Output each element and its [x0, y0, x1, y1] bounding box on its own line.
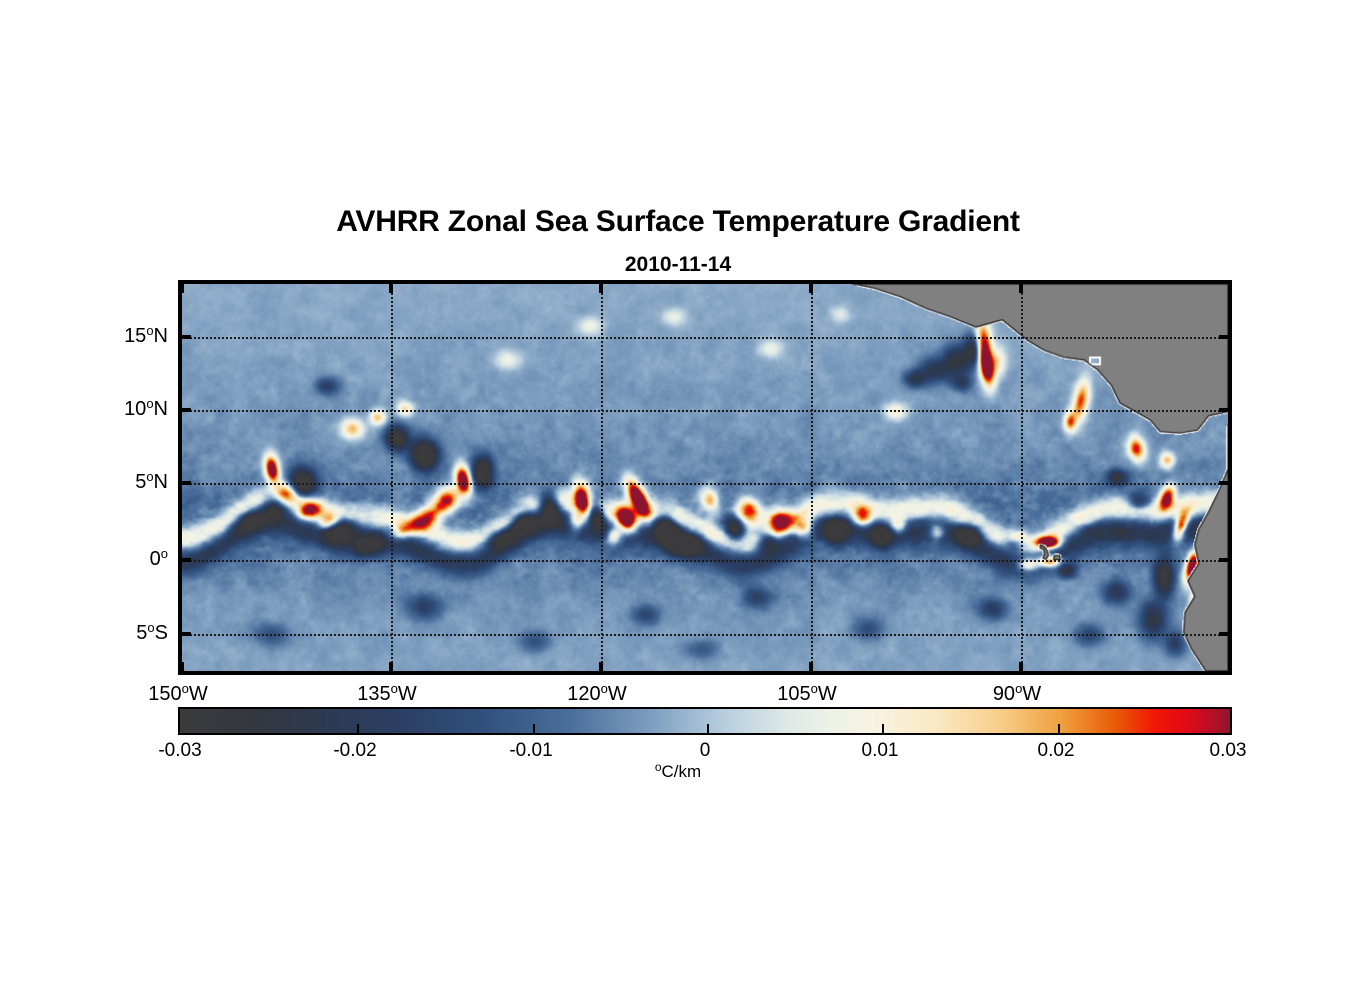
tick-mark-y [182, 558, 191, 562]
y-tick-label-3: 0o [150, 546, 168, 571]
tick-mark-y [182, 408, 191, 412]
tick-mark-x [389, 662, 393, 671]
tick-mark-x [180, 662, 184, 671]
tick-mark-x [599, 284, 603, 293]
colorbar-tick-mark [707, 724, 709, 733]
tick-mark-y [1219, 632, 1228, 636]
x-tick-label-1: 135oW [357, 681, 417, 706]
colorbar-gradient [180, 709, 1230, 733]
y-tick-label-4: 5oS [136, 620, 168, 645]
figure-subtitle-date: 2010-11-14 [0, 253, 1356, 277]
colorbar[interactable] [178, 707, 1232, 735]
colorbar-tick-label-1: -0.02 [333, 740, 376, 762]
tick-mark-y [1219, 481, 1228, 485]
x-tick-label-4: 90oW [993, 681, 1041, 706]
tick-mark-x [180, 284, 184, 293]
colorbar-tick-mark [882, 724, 884, 733]
tick-mark-x [1019, 662, 1023, 671]
y-tick-label-0: 15oN [124, 323, 168, 348]
tick-mark-y [182, 335, 191, 339]
tick-mark-y [182, 632, 191, 636]
tick-mark-x [1019, 284, 1023, 293]
x-tick-label-3: 105oW [777, 681, 837, 706]
page-title: AVHRR Zonal Sea Surface Temperature Grad… [0, 205, 1356, 239]
tick-mark-x [809, 662, 813, 671]
x-tick-label-0: 150oW [148, 681, 208, 706]
colorbar-tick-label-3: 0 [700, 740, 711, 762]
colorbar-tick-mark [533, 724, 535, 733]
tick-mark-y [1219, 558, 1228, 562]
colorbar-tick-label-5: 0.02 [1038, 740, 1075, 762]
tick-mark-y [1219, 335, 1228, 339]
sst-gradient-heatmap [182, 284, 1228, 671]
tick-mark-x [389, 284, 393, 293]
colorbar-tick-label-2: -0.01 [509, 740, 552, 762]
colorbar-tick-label-0: -0.03 [158, 740, 201, 762]
tick-mark-x [809, 284, 813, 293]
colorbar-tick-label-4: 0.01 [862, 740, 899, 762]
tick-mark-y [182, 481, 191, 485]
x-tick-label-2: 120oW [567, 681, 627, 706]
figure-canvas: AVHRR Zonal Sea Surface Temperature Grad… [0, 0, 1356, 1000]
tick-mark-y [1219, 408, 1228, 412]
colorbar-units-label: oC/km [0, 760, 1356, 782]
y-tick-label-1: 10oN [124, 396, 168, 421]
colorbar-tick-label-6: 0.03 [1210, 740, 1247, 762]
colorbar-tick-mark [1058, 724, 1060, 733]
y-tick-label-2: 5oN [135, 469, 168, 494]
map-axes[interactable] [178, 280, 1232, 675]
tick-mark-x [599, 662, 603, 671]
colorbar-tick-mark [357, 724, 359, 733]
